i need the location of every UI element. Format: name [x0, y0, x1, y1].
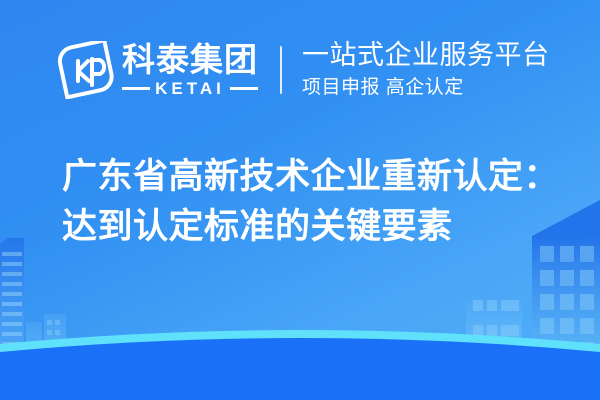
brand-logo: 科泰集团 KETAI	[56, 41, 258, 99]
tagline-secondary: 项目申报 高企认定	[302, 77, 550, 100]
logo-dash-left	[122, 87, 150, 90]
logo-dash-right	[230, 87, 258, 90]
banner-title: 广东省高新技术企业重新认定：达到认定标准的关键要素	[62, 152, 562, 251]
brand-name-en: KETAI	[155, 80, 225, 97]
banner-header: 科泰集团 KETAI 一站式企业服务平台 项目申报 高企认定	[0, 0, 600, 140]
tagline-primary: 一站式企业服务平台	[302, 40, 550, 70]
promo-banner: 科泰集团 KETAI 一站式企业服务平台 项目申报 高企认定 广东省高新技术企业…	[0, 0, 600, 400]
ketai-diamond-logo-icon	[56, 41, 114, 99]
header-divider	[280, 46, 282, 94]
brand-name-en-row: KETAI	[122, 80, 258, 97]
bottom-wave-decoration	[0, 310, 600, 400]
tagline-block: 一站式企业服务平台 项目申报 高企认定	[302, 40, 550, 99]
brand-name-cn: 科泰集团	[122, 43, 258, 76]
brand-wordmark: 科泰集团 KETAI	[122, 43, 258, 97]
